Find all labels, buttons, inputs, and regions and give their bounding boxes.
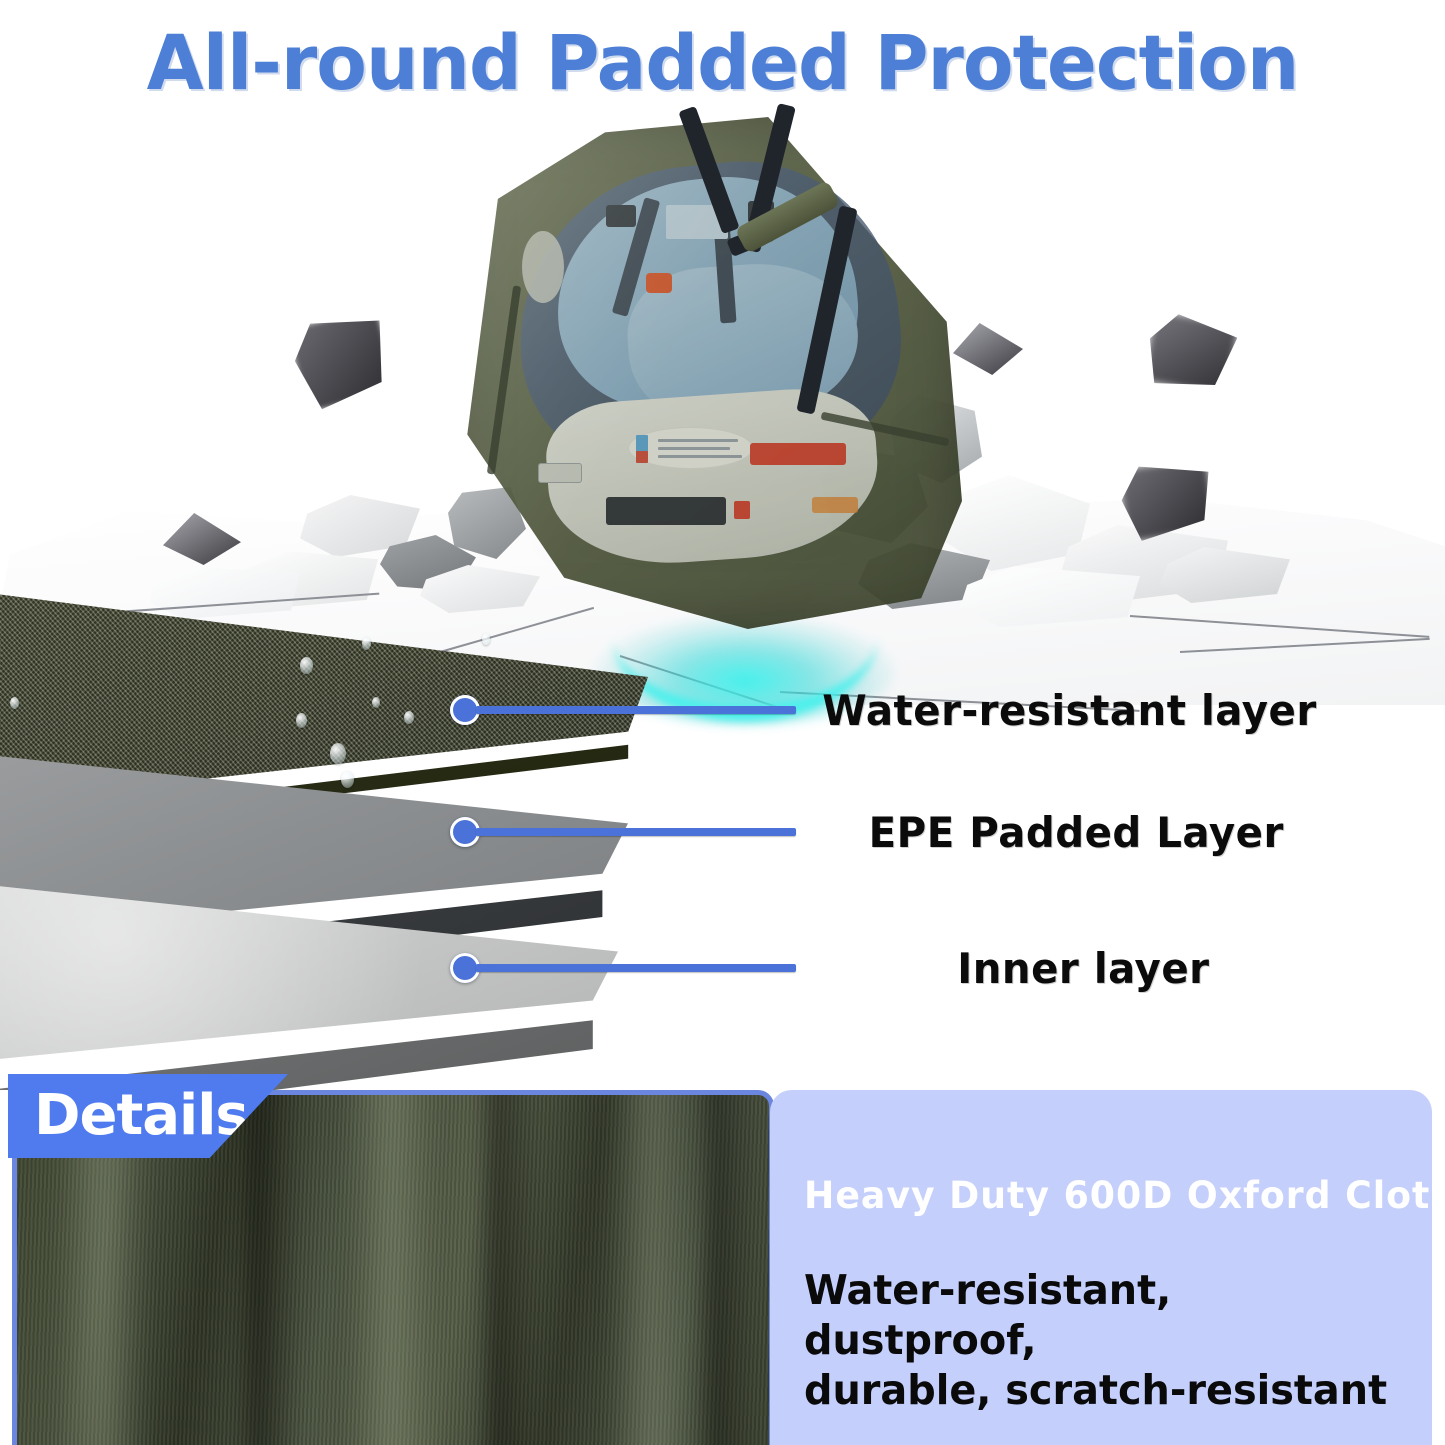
callout-leader-line (476, 964, 796, 972)
layer-label-epe: EPE Padded Layer (869, 808, 1284, 857)
callout-leader-line (476, 828, 796, 836)
fabric-fold (707, 1090, 759, 1445)
water-droplet (296, 713, 307, 728)
flying-debris (953, 323, 1023, 375)
details-badge-label: Details (34, 1088, 248, 1144)
fabric-highlight (347, 1090, 437, 1445)
layer-label-water-resistant: Water-resistant layer (822, 686, 1316, 735)
details-section: Details Heavy Duty 600D Oxford Cloth Wat… (0, 1068, 1445, 1445)
callout-water-resistant (450, 695, 796, 725)
fabric-fold (487, 1090, 539, 1445)
details-body: Water-resistant, dustproof, durable, scr… (804, 1265, 1388, 1415)
callout-leader-line (476, 706, 796, 714)
flying-debris (1142, 310, 1239, 396)
callout-inner (450, 953, 796, 983)
water-droplet (372, 697, 380, 708)
details-headline: Heavy Duty 600D Oxford Cloth (804, 1174, 1394, 1217)
details-info-panel: Heavy Duty 600D Oxford Cloth Water-resis… (770, 1090, 1432, 1445)
water-droplet (404, 711, 414, 724)
infographic-canvas: All-round Padded Protection (0, 0, 1445, 1445)
fabric-fold (247, 1090, 299, 1445)
layer-label-inner: Inner layer (957, 944, 1209, 993)
water-droplet (10, 697, 19, 709)
fabric-highlight (607, 1090, 697, 1445)
water-droplet (300, 657, 313, 674)
page-title: All-round Padded Protection (22, 18, 1424, 107)
callout-epe (450, 817, 796, 847)
water-droplet (362, 637, 371, 650)
flying-debris (287, 307, 397, 413)
details-body-line-2: durable, scratch-resistant (804, 1365, 1388, 1415)
details-body-line-1: Water-resistant, dustproof, (804, 1265, 1388, 1365)
water-droplet (341, 771, 354, 788)
water-droplet (330, 743, 346, 764)
water-droplet (482, 633, 490, 645)
